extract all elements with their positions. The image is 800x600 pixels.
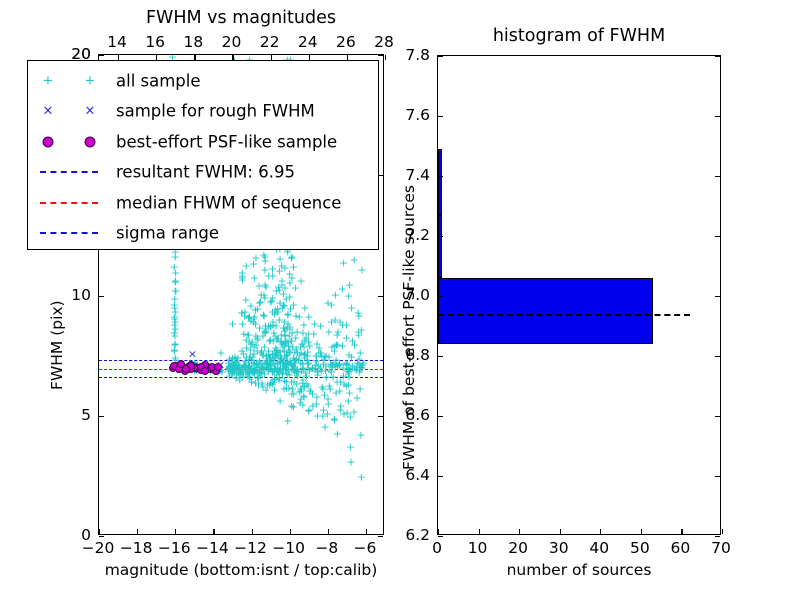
- x-tick-label: 50: [630, 539, 650, 557]
- legend-label: sigma range: [116, 224, 219, 243]
- data-point-all-sample: +: [355, 383, 364, 394]
- dashed-line-icon: [40, 171, 98, 173]
- data-point-all-sample: +: [313, 411, 322, 422]
- x-tick: [722, 529, 723, 534]
- x-tick-label: 0: [432, 539, 442, 557]
- plus-icon: +: [43, 73, 54, 88]
- data-point-all-sample: +: [327, 342, 336, 353]
- y-tick-right: [715, 356, 720, 357]
- x-tick-label: 30: [549, 539, 569, 557]
- x-tick-label-bottom: −14: [196, 539, 229, 557]
- y-tick-label: 10: [71, 286, 91, 304]
- data-point-psf-like-sample: [182, 365, 190, 373]
- x-tick-label-bottom: −10: [272, 539, 305, 557]
- x-tick-label-top: 18: [183, 33, 203, 51]
- y-tick-right: [715, 56, 720, 57]
- right-xaxis-label: number of sources: [507, 561, 652, 579]
- data-point-all-sample: +: [280, 282, 289, 293]
- y-tick-right: [715, 416, 720, 417]
- data-point-all-sample: +: [343, 407, 352, 418]
- x-tick-bottom: [137, 529, 138, 534]
- data-point-all-sample: +: [249, 357, 258, 368]
- data-point-all-sample: +: [349, 255, 358, 266]
- x-tick: [681, 529, 682, 534]
- x-tick-label-bottom: −18: [120, 539, 153, 557]
- data-point-all-sample: +: [342, 320, 351, 331]
- y-tick-left: [99, 536, 104, 537]
- legend-item: ××sample for rough FWHM: [28, 96, 378, 127]
- y-tick-label: 20: [71, 45, 91, 63]
- x-tick-label-top: 20: [222, 33, 242, 51]
- x-tick: [600, 529, 601, 534]
- legend-label: resultant FWHM: 6.95: [116, 163, 295, 182]
- x-tick-label-top: 24: [298, 33, 318, 51]
- data-point-all-sample: +: [283, 415, 292, 426]
- data-point-all-sample: +: [320, 422, 329, 433]
- x-tick-label: 20: [508, 539, 528, 557]
- x-tick-label: 60: [671, 539, 691, 557]
- data-point-all-sample: +: [324, 399, 333, 410]
- x-tick-label-top: 22: [260, 33, 280, 51]
- y-tick-left: [438, 116, 443, 117]
- data-point-psf-like-sample: [201, 367, 209, 375]
- y-tick-right: [715, 236, 720, 237]
- y-tick-label: 7.6: [405, 106, 430, 124]
- data-point-all-sample: +: [277, 261, 286, 272]
- x-tick-label-bottom: −6: [353, 539, 376, 557]
- x-tick-label-bottom: −16: [158, 539, 191, 557]
- legend-label: median FHWM of sequence: [116, 193, 341, 212]
- y-tick-left: [438, 536, 443, 537]
- data-point-all-sample: +: [288, 251, 297, 262]
- data-point-all-sample: +: [250, 272, 259, 283]
- histogram-bar: [438, 278, 653, 344]
- x-tick: [438, 529, 439, 534]
- data-point-all-sample: +: [354, 310, 363, 321]
- histogram-bars-layer: [438, 56, 720, 534]
- data-point-all-sample: +: [318, 382, 327, 393]
- y-tick-left: [438, 56, 443, 57]
- data-point-all-sample: +: [335, 386, 344, 397]
- data-point-all-sample: +: [355, 363, 364, 374]
- y-tick-left: [438, 176, 443, 177]
- data-point-psf-like-sample: [214, 363, 222, 371]
- data-point-all-sample: +: [298, 358, 307, 369]
- dash-dot-line-icon: [40, 232, 98, 234]
- figure-canvas: FWHM vs magnitudes +++++++++++++++++++++…: [0, 0, 800, 600]
- data-point-all-sample: +: [346, 442, 355, 453]
- data-point-all-sample: +: [264, 358, 273, 369]
- y-tick-left: [99, 416, 104, 417]
- data-point-all-sample: +: [310, 364, 319, 375]
- data-point-all-sample: +: [170, 313, 179, 324]
- data-point-all-sample: +: [242, 334, 251, 345]
- data-point-all-sample: +: [271, 321, 280, 332]
- legend-item: resultant FWHM: 6.95: [28, 157, 378, 188]
- x-tick-bottom: [366, 529, 367, 534]
- data-point-all-sample: +: [357, 264, 366, 275]
- data-point-all-sample: +: [253, 303, 262, 314]
- median-fwhm-dashed-line: [438, 314, 690, 316]
- data-point-all-sample: +: [342, 358, 351, 369]
- x-tick: [479, 529, 480, 534]
- y-tick-right: [378, 416, 383, 417]
- data-point-all-sample: +: [350, 339, 359, 350]
- x-tick-bottom: [213, 529, 214, 534]
- data-point-all-sample: +: [267, 295, 276, 306]
- y-tick-label: 7.8: [405, 46, 430, 64]
- y-tick-right: [378, 55, 383, 56]
- y-tick-right: [715, 476, 720, 477]
- x-tick: [519, 529, 520, 534]
- data-point-all-sample: +: [283, 321, 292, 332]
- data-point-all-sample: +: [304, 312, 313, 323]
- data-point-all-sample: +: [238, 267, 247, 278]
- y-tick-right: [715, 296, 720, 297]
- y-tick-label: 7.4: [405, 166, 430, 184]
- x-tick-bottom: [99, 529, 100, 534]
- data-point-all-sample: +: [298, 327, 307, 338]
- legend-label: best-effort PSF-like sample: [116, 132, 337, 151]
- cross-icon: ×: [85, 104, 96, 119]
- x-tick: [641, 529, 642, 534]
- data-point-all-sample: +: [261, 327, 270, 338]
- x-tick-label-top: 26: [336, 33, 356, 51]
- data-point-all-sample: +: [316, 320, 325, 331]
- y-tick-left: [438, 476, 443, 477]
- legend-item: median FHWM of sequence: [28, 187, 378, 218]
- legend-item: sigma range: [28, 218, 378, 249]
- left-panel-title: FWHM vs magnitudes: [98, 8, 384, 28]
- data-point-all-sample: +: [170, 340, 179, 351]
- x-tick: [560, 529, 561, 534]
- x-tick-label-top: 16: [145, 33, 165, 51]
- x-tick-bottom: [252, 529, 253, 534]
- circle-icon: [85, 136, 96, 147]
- left-xaxis-label: magnitude (bottom:isnt / top:calib): [105, 561, 378, 579]
- y-tick-left: [99, 296, 104, 297]
- data-point-all-sample: +: [276, 396, 285, 407]
- x-tick-label: 40: [589, 539, 609, 557]
- data-point-all-sample: +: [278, 302, 287, 313]
- legend-label: all sample: [116, 71, 201, 90]
- x-tick-bottom: [290, 529, 291, 534]
- right-panel-title: histogram of FWHM: [437, 26, 721, 46]
- data-point-all-sample: +: [357, 471, 366, 482]
- x-tick-label: 70: [711, 539, 731, 557]
- data-point-all-sample: +: [269, 335, 278, 346]
- y-tick-right: [715, 176, 720, 177]
- histogram-bar: [438, 149, 442, 215]
- y-tick-right: [378, 536, 383, 537]
- legend-box: ++all sample××sample for rough FWHMbest-…: [27, 60, 379, 250]
- y-tick-label: 0: [81, 526, 91, 544]
- x-tick-label-top: 14: [107, 33, 127, 51]
- legend-item: best-effort PSF-like sample: [28, 126, 378, 157]
- y-tick-right: [715, 536, 720, 537]
- x-tick-label-bottom: −12: [234, 539, 267, 557]
- y-tick-right: [715, 116, 720, 117]
- x-tick-bottom: [175, 529, 176, 534]
- plus-icon: +: [85, 73, 96, 88]
- data-point-all-sample: +: [339, 258, 348, 269]
- data-point-all-sample: +: [240, 361, 249, 372]
- data-point-all-sample: +: [228, 319, 237, 330]
- x-tick-label: 10: [468, 539, 488, 557]
- data-point-all-sample: +: [354, 326, 363, 337]
- data-point-all-sample: +: [333, 429, 342, 440]
- dashed-line-icon: [40, 202, 98, 204]
- legend-label: sample for rough FWHM: [116, 102, 315, 121]
- cross-icon: ×: [43, 104, 54, 119]
- legend-item: ++all sample: [28, 65, 378, 96]
- x-tick-top: [385, 55, 386, 60]
- circle-icon: [43, 136, 54, 147]
- data-point-all-sample: +: [281, 338, 290, 349]
- y-tick-left: [99, 55, 104, 56]
- data-point-all-sample: +: [356, 430, 365, 441]
- x-tick-label-top: 28: [374, 33, 394, 51]
- right-yaxis-label: FWHM of best-effort PSF-like sources: [400, 185, 418, 470]
- data-point-all-sample: +: [289, 402, 298, 413]
- left-yaxis-label: FWHM (pix): [48, 300, 66, 390]
- data-point-all-sample: +: [321, 361, 330, 372]
- y-tick-label: 5: [81, 406, 91, 424]
- data-point-all-sample: +: [296, 276, 305, 287]
- y-tick-left: [438, 356, 443, 357]
- y-tick-label: 6.2: [405, 526, 430, 544]
- y-tick-left: [438, 416, 443, 417]
- histogram-bar: [438, 215, 442, 278]
- data-point-all-sample: +: [327, 300, 336, 311]
- data-point-all-sample: +: [281, 365, 290, 376]
- x-tick-label-bottom: −8: [315, 539, 338, 557]
- histogram-of-fwhm-plot: [437, 55, 721, 535]
- y-tick-left: [438, 236, 443, 237]
- y-tick-right: [378, 296, 383, 297]
- y-tick-left: [438, 296, 443, 297]
- x-tick-bottom: [328, 529, 329, 534]
- data-point-all-sample: +: [342, 332, 351, 343]
- data-point-all-sample: +: [257, 377, 266, 388]
- data-point-all-sample: +: [259, 249, 268, 260]
- data-point-all-sample: +: [346, 457, 355, 468]
- data-point-all-sample: +: [298, 400, 307, 411]
- data-point-all-sample: +: [344, 290, 353, 301]
- data-point-all-sample: +: [333, 361, 342, 372]
- data-point-all-sample: +: [260, 264, 269, 275]
- data-point-all-sample: +: [289, 388, 298, 399]
